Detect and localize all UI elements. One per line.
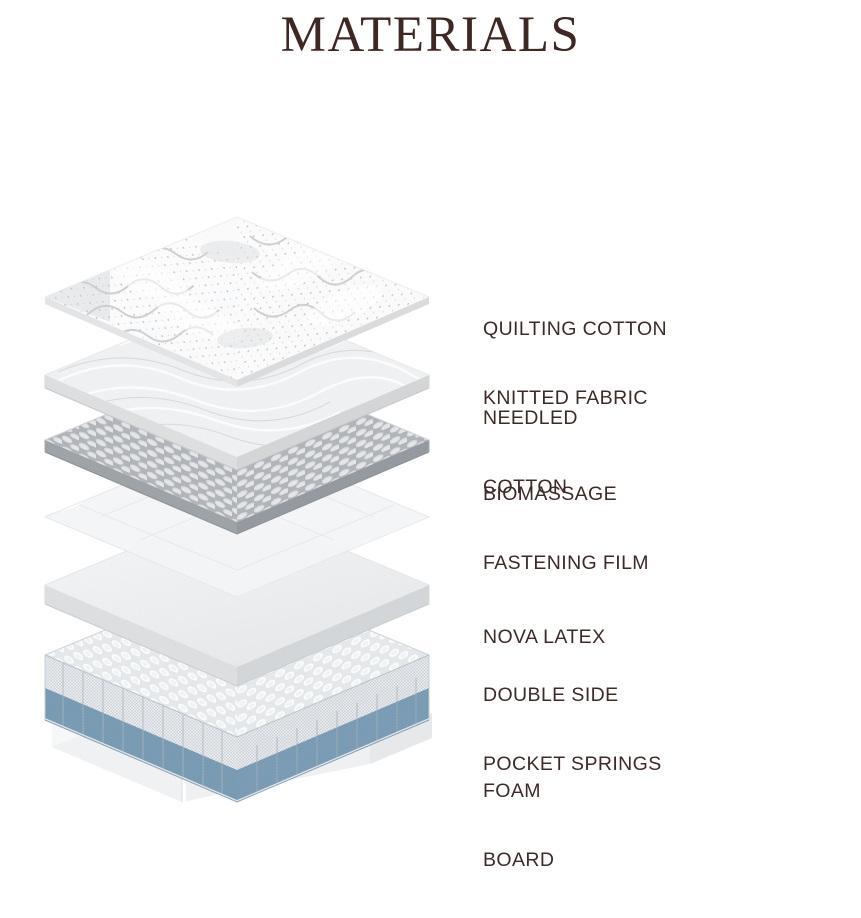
- materials-infographic: MATERIALS: [0, 0, 861, 861]
- label-line-1: DOUBLE SIDE: [483, 684, 662, 707]
- label-line-1: BIOMASSAGE: [483, 483, 617, 506]
- mattress-layer-diagram: [0, 0, 470, 861]
- label-line-1: FASTENING FILM: [483, 552, 649, 575]
- layer-diagram-svg: [0, 0, 470, 861]
- label-line-1: FOAM: [483, 780, 554, 803]
- label-foam-board: FOAM BOARD: [483, 734, 554, 918]
- layer-label-list: QUILTING COTTON KNITTED FABRIC NEEDLED C…: [483, 0, 861, 861]
- label-line-1: QUILTING COTTON: [483, 318, 667, 341]
- label-line-1: NEEDLED: [483, 407, 578, 430]
